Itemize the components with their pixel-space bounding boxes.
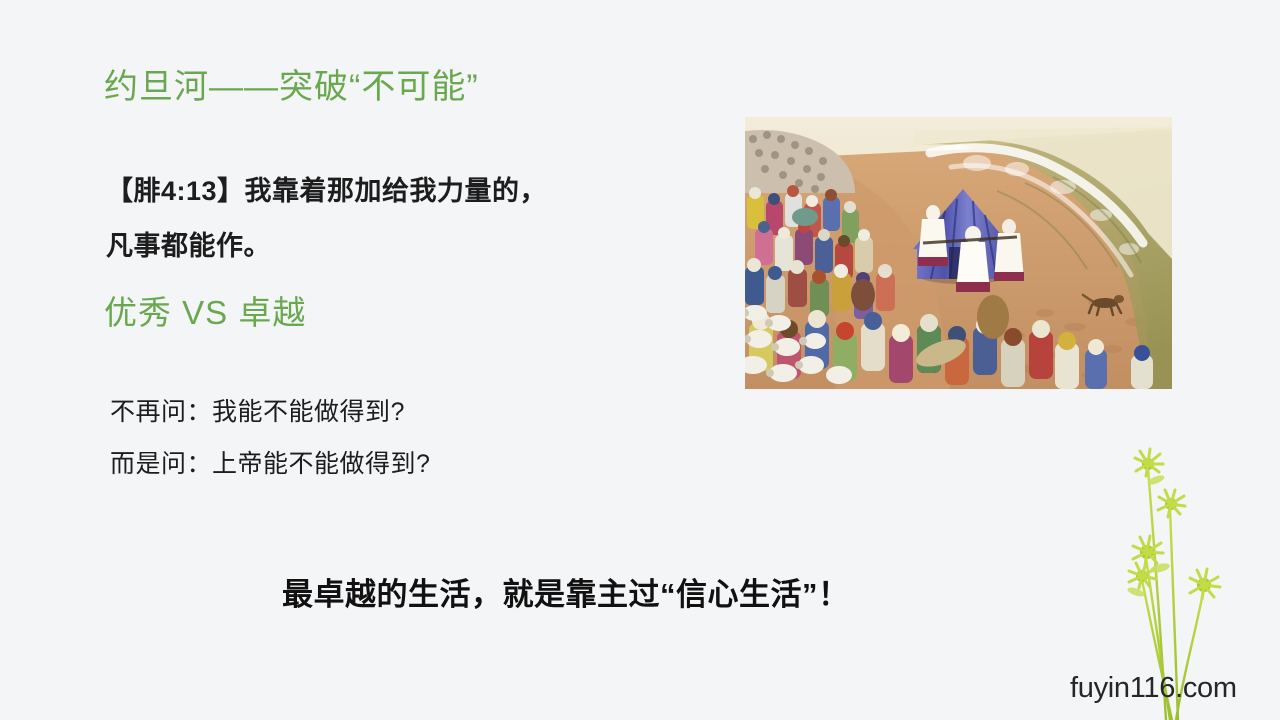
conclusion-statement: 最卓越的生活，就是靠主过“信心生活”！ bbox=[282, 572, 850, 618]
verse-line: 凡事都能作。 bbox=[106, 219, 666, 274]
subtitle-excellent-vs-outstanding: 优秀 VS 卓越 bbox=[104, 290, 306, 336]
scripture-verse: 【腓4:13】我靠着那加给我力量的， 凡事都能作。 bbox=[106, 164, 666, 274]
slide-canvas: 约旦河——突破“不可能” 【腓4:13】我靠着那加给我力量的， 凡事都能作。 优… bbox=[0, 0, 1280, 720]
illustration-image bbox=[745, 117, 1172, 389]
site-watermark: fuyin116.com bbox=[1070, 670, 1237, 706]
page-title: 约旦河——突破“不可能” bbox=[104, 64, 479, 110]
verse-line: 【腓4:13】我靠着那加给我力量的， bbox=[106, 164, 666, 219]
list-item: 不再问：我能不能做得到? bbox=[110, 386, 430, 438]
question-list: 不再问：我能不能做得到? 而是问：上帝能不能做得到? bbox=[110, 386, 430, 490]
list-item: 而是问：上帝能不能做得到? bbox=[110, 438, 430, 490]
